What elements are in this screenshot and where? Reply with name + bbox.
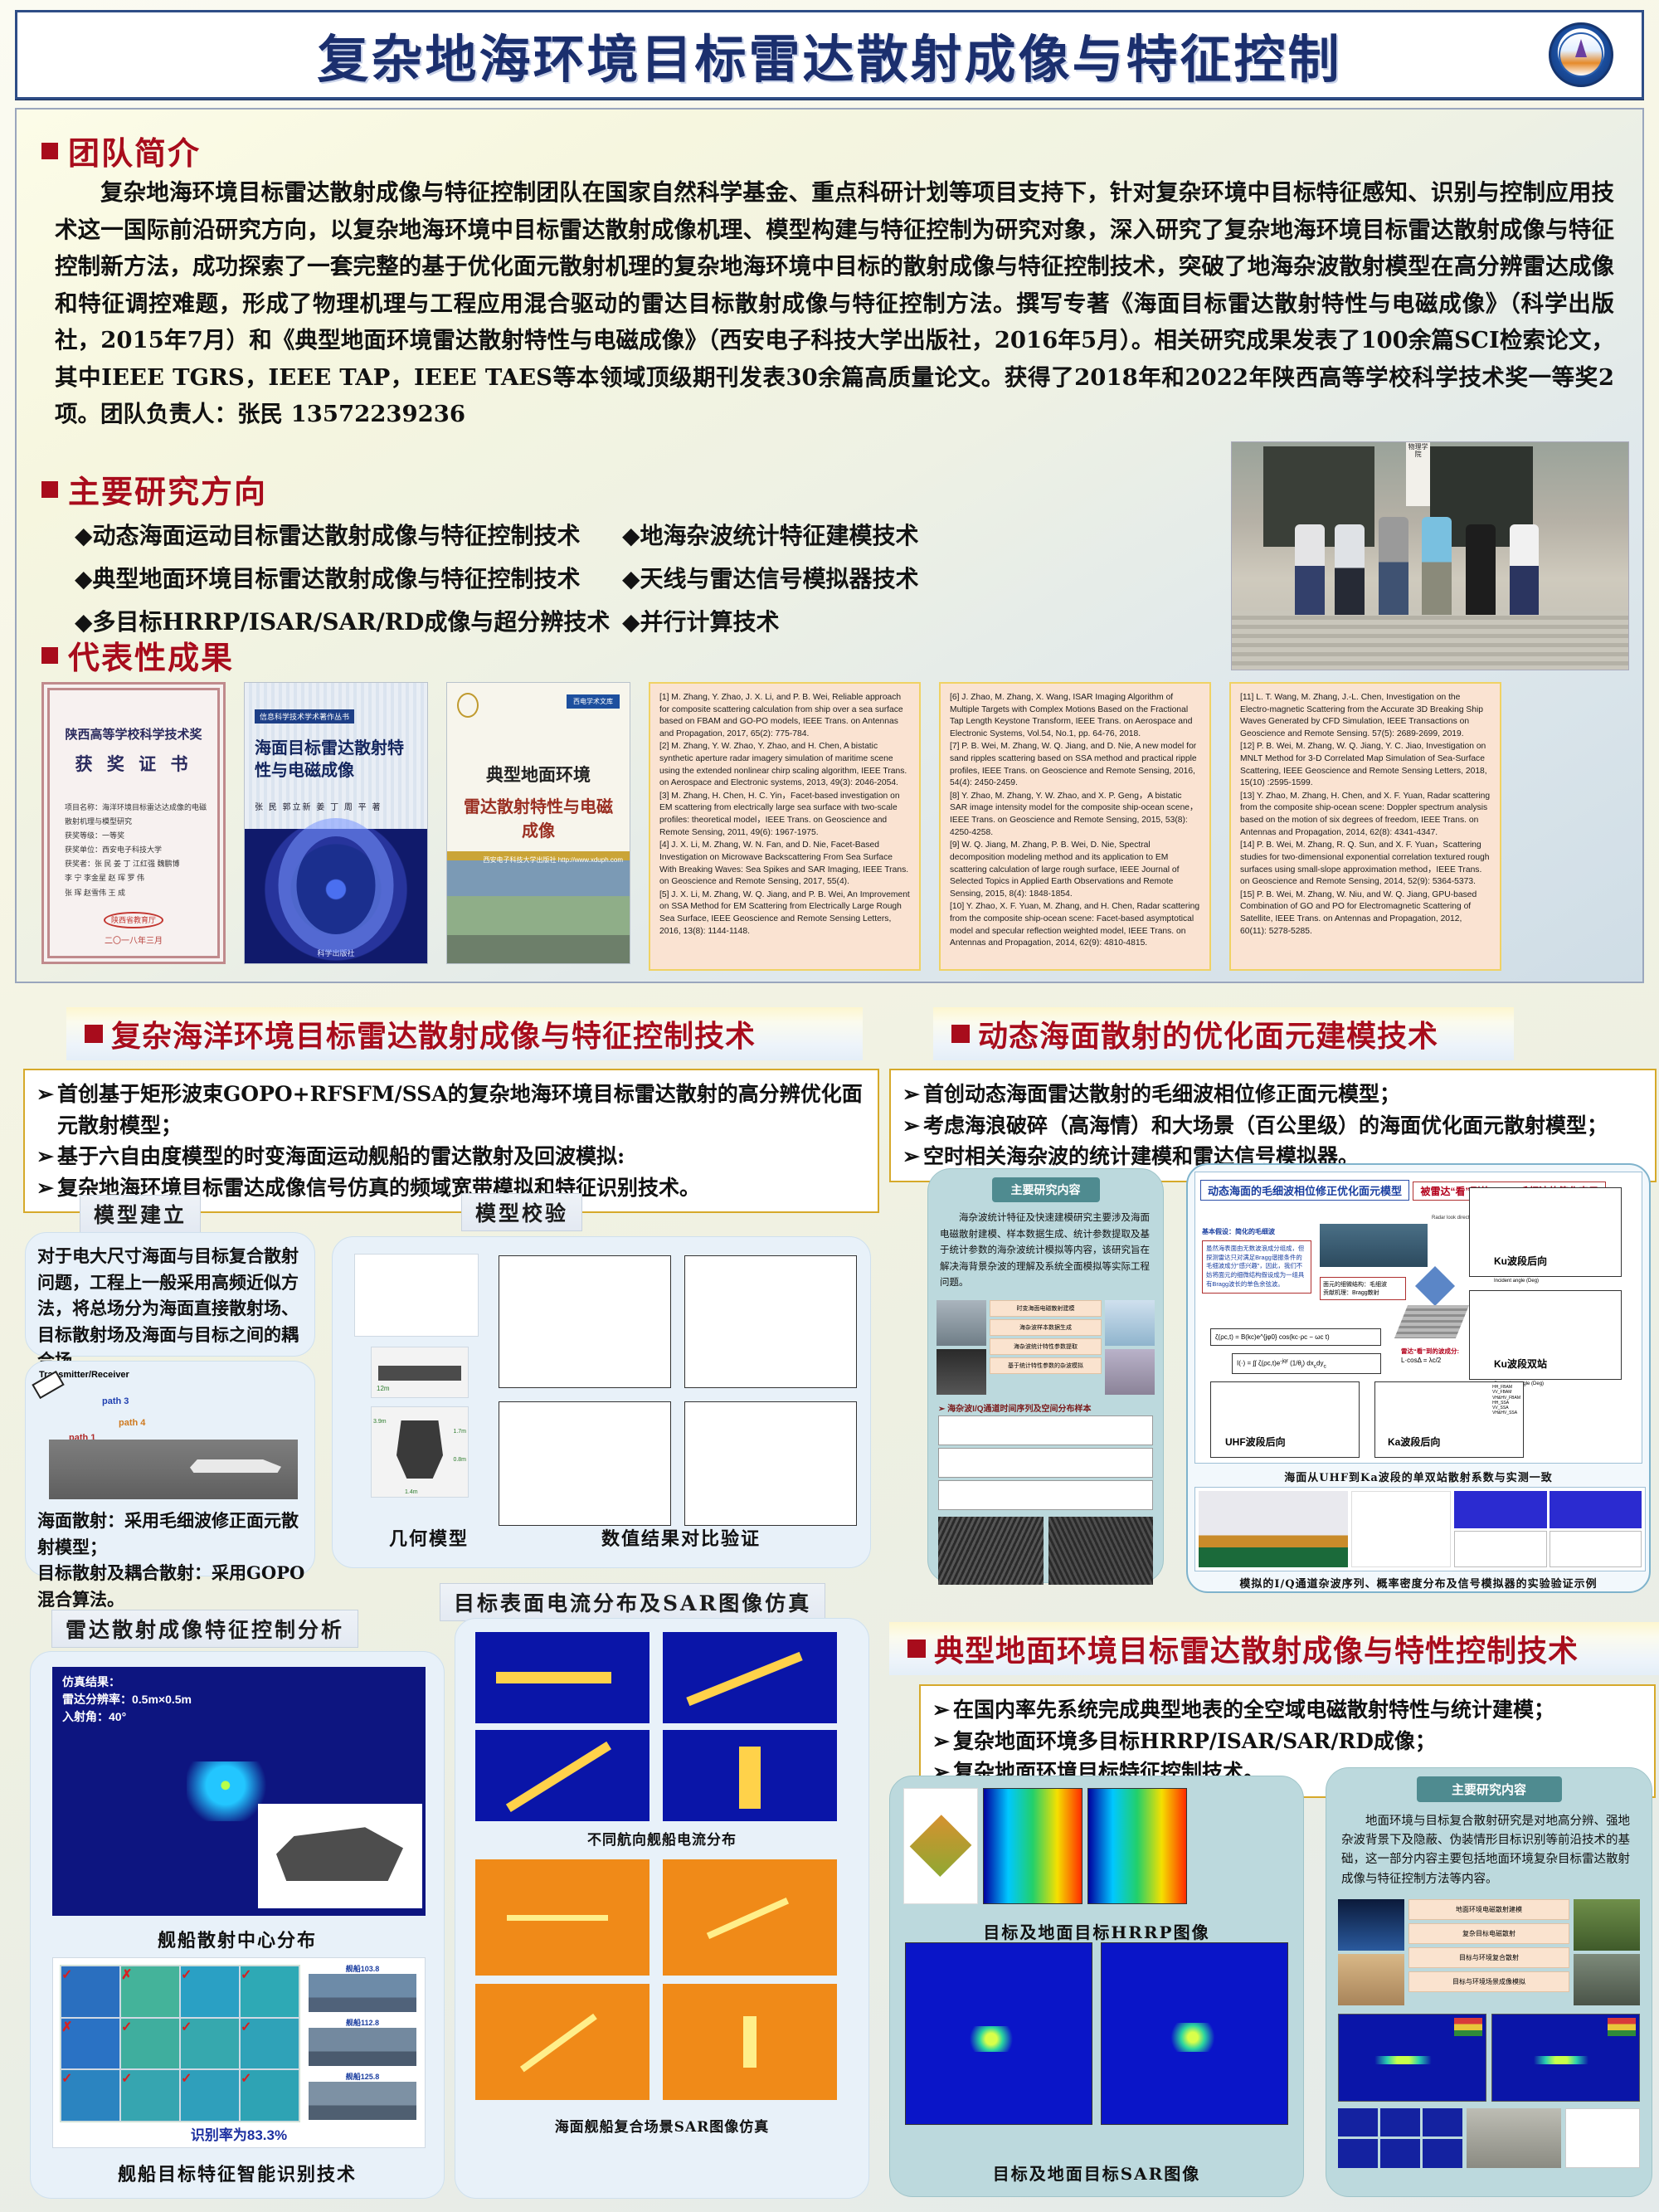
certificate-seal-icon: 陕西省教育厅 bbox=[104, 912, 163, 928]
verify-plot-1 bbox=[499, 1255, 671, 1388]
sim-result-label: 仿真结果： bbox=[62, 1674, 192, 1691]
current-plot-3 bbox=[475, 1730, 649, 1821]
isar-tile bbox=[1338, 2108, 1378, 2137]
recog-tile: ✓ bbox=[240, 2069, 299, 2122]
recognition-rate: 识别率为83.3% bbox=[53, 2123, 425, 2144]
scattering-path-diagram-box: Transmitter/Receiver path 1 path 2 path … bbox=[25, 1361, 315, 1576]
reference-item: [13] Y. Zhao, M. Zhang, H. Chen, and X. … bbox=[1240, 791, 1491, 839]
team-photo: 物理学院 bbox=[1231, 441, 1629, 670]
direction-item: ◆并行计算技术 bbox=[622, 604, 1087, 637]
reference-item: [15] P. B. Wei, M. Zhang, W. Niu, and W.… bbox=[1240, 889, 1491, 938]
sar-image-2 bbox=[1101, 1942, 1288, 2125]
recog-tile: ✓ bbox=[61, 1966, 120, 2018]
antenna-photo bbox=[937, 1300, 986, 1346]
achievements-heading: 代表性成果 bbox=[41, 632, 234, 678]
reference-item: [6] J. Zhao, M. Zhang, X. Wang, ISAR Ima… bbox=[950, 692, 1200, 740]
caption-recognition: 舰船目标特征智能识别技术 bbox=[31, 2160, 444, 2186]
poster-root: 复杂地海环境目标雷达散射成像与特征控制 团队简介 复杂地海环境目标雷达散射成像与… bbox=[0, 0, 1659, 2212]
legend-entry: VH&HV_SSA bbox=[1492, 1411, 1520, 1415]
ground-side-title: 主要研究内容 bbox=[1417, 1776, 1562, 1802]
dynamic-bullet: 首创动态海面雷达散射的毛细波相位修正面元模型； bbox=[923, 1079, 1400, 1110]
equation-2: L·cosΔ = λc/2 bbox=[1401, 1357, 1441, 1364]
isar-tile bbox=[1380, 2108, 1420, 2137]
certificate-field: 项目名称：海洋环境目标雷达达成像的电磁散射机理与模型研究 bbox=[65, 801, 209, 829]
reference-item: [10] Y. Zhao, X. F. Yuan, M. Zhang, and … bbox=[950, 901, 1200, 949]
book2-chip: 西电学术文库 bbox=[567, 694, 620, 709]
book-cover-2: 西电学术文库 典型地面环境 雷达散射特性与电磁成像 Radar Scatteri… bbox=[446, 682, 630, 964]
dynamic-side-caption: 海杂波I/Q通道时间序列及空间分布样本 bbox=[947, 1405, 1091, 1414]
references-column-3: [11] L. T. Wang, M. Zhang, J.-L. Chen, I… bbox=[1229, 682, 1501, 971]
simulator-screenshot bbox=[1199, 1491, 1348, 1567]
certificate-field: 李 宁 李金星 赵 珲 罗 伟 bbox=[65, 871, 209, 885]
result-table bbox=[1565, 2108, 1640, 2168]
caption-sar: 海面舰船复合场景SAR图像仿真 bbox=[455, 2115, 868, 2136]
geom-dim3: 1.7m bbox=[453, 1429, 466, 1435]
iq-simulator-panel bbox=[1194, 1487, 1646, 1571]
current-plot-4 bbox=[663, 1730, 837, 1821]
path4-label: path 4 bbox=[119, 1418, 145, 1428]
verify-plot-4 bbox=[684, 1401, 857, 1526]
caption-hrrp: 目标及地面目标HRRP图像 bbox=[890, 1919, 1303, 1943]
bullet-square-icon bbox=[907, 1640, 926, 1658]
verify-plot-2 bbox=[684, 1255, 857, 1388]
reference-item: [4] J. X. Li, M. Zhang, W. N. Fan, and D… bbox=[659, 840, 910, 888]
sea-surface-map-1 bbox=[938, 1517, 1044, 1585]
book2-publisher: 西安电子科技大学出版社 http://www.xduph.com bbox=[484, 856, 623, 865]
missile-launcher-photo bbox=[1574, 1954, 1640, 2005]
reference-item: [11] L. T. Wang, M. Zhang, J.-L. Chen, I… bbox=[1240, 692, 1491, 740]
dynamic-bullet: 考虑海浪破碎（高海情）和大场景（百公里级）的海面优化面元散射模型； bbox=[923, 1110, 1608, 1142]
ground-side-text: 地面环境与目标复合散射研究是对地高分辨、强地杂波背景下及隐蔽、伪装情形目标识别等… bbox=[1326, 1802, 1652, 1899]
assumption-text: 虽然海表面由无数波浪成分组成，但探测雷达只对满足Bragg谐振条件的毛细波成分"… bbox=[1202, 1240, 1311, 1294]
certificate-fields: 项目名称：海洋环境目标雷达达成像的电磁散射机理与模型研究 获奖等级：一等奖 获奖… bbox=[58, 801, 209, 900]
reference-item: [9] W. Q. Jiang, M. Zhang, P. B. Wei, D.… bbox=[950, 840, 1200, 900]
plate-model-build: 模型建立 bbox=[80, 1195, 201, 1233]
simulator-table bbox=[1351, 1491, 1451, 1567]
direction-item: ◆动态海面运动目标雷达散射成像与特征控制技术 bbox=[75, 518, 622, 551]
team-intro-paragraph: 复杂地海环境目标雷达散射成像与特征控制团队在国家自然科学基金、重点科研计划等项目… bbox=[55, 174, 1614, 433]
ground-bullet: 在国内率先系统完成典型地表的全空域电磁散射特性与统计建模； bbox=[953, 1694, 1554, 1726]
capillary-model-title: 动态海面的毛细波相位修正优化面元模型 bbox=[1200, 1180, 1409, 1201]
pdf-plot-2 bbox=[1550, 1531, 1642, 1568]
pdf-plot-1 bbox=[1454, 1531, 1547, 1568]
recog-tile: ✓ bbox=[180, 1966, 240, 2018]
certificate-date: 二〇一八年三月 bbox=[105, 933, 163, 946]
university-emblem-icon bbox=[1549, 22, 1613, 87]
fund-logo-icon bbox=[457, 693, 479, 718]
plot-label-uhf: UHF波段后向 bbox=[1225, 1435, 1286, 1449]
isar-tile bbox=[1423, 2139, 1462, 2168]
capillary-wave-icon bbox=[1394, 1305, 1469, 1338]
scatter-center-image: 仿真结果： 雷达分辨率：0.5m×0.5m 入射角：40° bbox=[52, 1667, 426, 1916]
ocean-bullet: 首创基于矩形波束GOPO+RFSFM/SSA的复杂地海环境目标雷达散射的高分辨优… bbox=[57, 1079, 866, 1141]
capillary-model-panel: 动态海面的毛细波相位修正优化面元模型 被雷达“看”到的Bragg毛细波的简化表示… bbox=[1194, 1172, 1642, 1464]
isar-tile bbox=[1380, 2139, 1420, 2168]
aircraft-photo bbox=[1105, 1349, 1155, 1395]
recog-tile: ✓ bbox=[240, 1966, 299, 2018]
sar-plot-3 bbox=[475, 1984, 649, 2100]
book1-authors: 张 民 郭立新 姜 丁 周 平 著 bbox=[255, 800, 417, 812]
geom-dim1: 12m bbox=[377, 1385, 390, 1392]
current-plot-1 bbox=[475, 1632, 649, 1723]
isar-tile bbox=[1423, 2108, 1462, 2137]
sar-plot-1 bbox=[475, 1859, 649, 1976]
plot-label-ku-bistatic: Ku波段双站 bbox=[1494, 1357, 1547, 1371]
ground-flow-step: 地面环境电磁散射建模 bbox=[1408, 1899, 1569, 1920]
geom-dim4: 0.8m bbox=[453, 1457, 466, 1463]
ground-scatter-map-1 bbox=[1338, 2014, 1486, 2102]
ground-flow-step: 目标与环境场景成像模拟 bbox=[1408, 1971, 1569, 1992]
geom-dim2: 3.9m bbox=[373, 1419, 387, 1425]
section-ground-heading: 典型地面环境目标雷达散射成像与特性控制技术 bbox=[889, 1622, 1659, 1675]
recog-tile: ✓ bbox=[120, 2018, 180, 2070]
assumption-label: 基本假设：简化的毛细波 bbox=[1202, 1227, 1275, 1236]
caption-iq: 模拟的I/Q通道杂波序列、概率密度分布及信号模拟器的实验验证示例 bbox=[1188, 1575, 1649, 1591]
caption-ground-sar: 目标及地面目标SAR图像 bbox=[890, 2161, 1303, 2185]
dynamic-side-card: 主要研究内容 海杂波统计特征及快速建模研究主要涉及海面电磁散射建模、样本数据生成… bbox=[927, 1168, 1164, 1583]
team-intro-heading: 团队简介 bbox=[41, 128, 201, 173]
ship-label: 舰船103.8 bbox=[309, 1963, 416, 1974]
ground-bullet: 复杂地面环境多目标HRRP/ISAR/SAR/RD成像； bbox=[953, 1726, 1436, 1757]
book-cover-1: 信息科学技术学术著作丛书 海面目标雷达散射特性与电磁成像 张 民 郭立新 姜 丁… bbox=[244, 682, 428, 964]
caption-geometry: 几何模型 bbox=[362, 1524, 495, 1551]
reference-item: [12] P. B. Wei, M. Zhang, W. Q. Jiang, Y… bbox=[1240, 741, 1491, 789]
ground-imaging-card: 目标及地面目标HRRP图像 目标及地面目标SAR图像 bbox=[889, 1776, 1304, 2197]
certificate-field: 获奖等级：一等奖 bbox=[65, 829, 209, 843]
radar-see-label: 雷达“看”到的波成分: bbox=[1401, 1347, 1459, 1356]
research-directions-list: ◆动态海面运动目标雷达散射成像与特征控制技术 ◆地海杂波统计特征建模技术 ◆典型… bbox=[75, 518, 1236, 637]
sea-photo-thumb bbox=[1320, 1224, 1428, 1267]
award-certificate: 陕西高等学校科学技术奖 获 奖 证 书 项目名称：海洋环境目标雷达达成像的电磁散… bbox=[41, 682, 226, 964]
desert-photo bbox=[1338, 1954, 1404, 2005]
caption-scatter-center: 舰船散射中心分布 bbox=[31, 1926, 444, 1952]
certificate-org: 陕西高等学校科学技术奖 bbox=[65, 725, 202, 743]
recog-tile: ✓ bbox=[240, 2018, 299, 2070]
direction-item: ◆典型地面环境目标雷达散射成像与特征控制技术 bbox=[75, 561, 622, 594]
certificate-field: 获奖单位：西安电子科技大学 bbox=[65, 843, 209, 857]
ocean-bullet: 基于六自由度模型的时变海面运动舰船的雷达散射及回波模拟: bbox=[57, 1141, 625, 1172]
poster-title-bar: 复杂地海环境目标雷达散射成像与特征控制 bbox=[15, 10, 1644, 100]
sea-surface-map-2 bbox=[1048, 1517, 1154, 1585]
references-column-2: [6] J. Zhao, M. Zhang, X. Wang, ISAR Ima… bbox=[939, 682, 1211, 971]
book1-title: 海面目标雷达散射特性与电磁成像 bbox=[255, 737, 417, 782]
hrrp-image-2 bbox=[1087, 1788, 1187, 1904]
ocean-bullet-list: ➢首创基于矩形波束GOPO+RFSFM/SSA的复杂地海环境目标雷达散射的高分辨… bbox=[23, 1069, 879, 1213]
dynamic-side-title: 主要研究内容 bbox=[992, 1177, 1100, 1202]
recog-tile: ✓ bbox=[61, 2069, 120, 2122]
reference-item: [2] M. Zhang, Y. W. Zhao, Y. Zhao, and H… bbox=[659, 741, 910, 789]
satellite-photo bbox=[1338, 1899, 1404, 1951]
geom-dim5: 1.4m bbox=[405, 1489, 418, 1495]
bullet-square-icon bbox=[951, 1025, 970, 1043]
caption-bands: 海面从UHF到Ka波段的单双站散射系数与实测一致 bbox=[1188, 1469, 1649, 1484]
sar-plot-2 bbox=[663, 1859, 837, 1976]
reference-item: [3] M. Zhang, H. Chen, H. C. Yin，Facet-b… bbox=[659, 791, 910, 839]
ship-cross-section-sketch: 3.9m 1.7m 0.8m 1.4m bbox=[371, 1406, 469, 1498]
ship-profile-sketch: 12m bbox=[371, 1347, 469, 1398]
sim-incidence: 入射角：40° bbox=[62, 1708, 192, 1726]
aircraft-field-photo bbox=[1574, 1899, 1640, 1951]
bullet-square-icon bbox=[85, 1025, 103, 1043]
ground-flow-step: 目标与环境复合散射 bbox=[1408, 1947, 1569, 1968]
plot-label-ku-back: Ku波段后向 bbox=[1494, 1254, 1547, 1268]
sar-image-1 bbox=[905, 1942, 1092, 2125]
ground-flow-step: 复杂目标电磁散射 bbox=[1408, 1923, 1569, 1944]
book2-title: 典型地面环境 bbox=[457, 762, 620, 787]
clutter-map-1 bbox=[1454, 1491, 1547, 1528]
terrain-3d-thumb bbox=[903, 1788, 978, 1904]
bullet-square-icon bbox=[41, 143, 58, 159]
caption-current: 不同航向舰船电流分布 bbox=[455, 1828, 868, 1849]
model-verify-box: 12m 3.9m 1.7m 0.8m 1.4m 几何模型 数值结果对比验证 bbox=[332, 1236, 871, 1568]
ground-side-card: 主要研究内容 地面环境与目标复合散射研究是对地高分辨、强地杂波背景下及隐蔽、伪装… bbox=[1326, 1767, 1652, 2197]
verify-plot-3 bbox=[499, 1401, 671, 1526]
reference-item: [1] M. Zhang, Y. Zhao, J. X. Li, and P. … bbox=[659, 692, 910, 740]
hrrp-image-1 bbox=[983, 1788, 1082, 1904]
axis-label-incident: Incident angle (Deg) bbox=[1494, 1279, 1539, 1284]
iq-series-black bbox=[938, 1415, 1153, 1445]
sar-photo bbox=[937, 1349, 986, 1395]
flow-step: 基于统计特性参数的杂波模拟 bbox=[990, 1357, 1102, 1374]
achievements-row: 陕西高等学校科学技术奖 获 奖 证 书 项目名称：海洋环境目标雷达达成像的电磁散… bbox=[41, 682, 1501, 971]
plate-model-verify: 模型校验 bbox=[461, 1193, 582, 1231]
references-column-1: [1] M. Zhang, Y. Zhao, J. X. Li, and P. … bbox=[649, 682, 921, 971]
ship-photo bbox=[1105, 1300, 1155, 1346]
dynamic-side-text: 海杂波统计特征及快速建模研究主要涉及海面电磁散射建模、样本数据生成、统计参数提取… bbox=[928, 1202, 1163, 1300]
isar-tile bbox=[1338, 2139, 1378, 2168]
flow-step: 海杂波样本数据生成 bbox=[990, 1319, 1102, 1336]
model-build-textbox: 对于电大尺寸海面与目标复合散射问题，工程上一般采用高频近似方法，将总场分为海面直… bbox=[25, 1232, 315, 1357]
facet-structure-label: 面元的细微结构：毛细波 贡献机理：Bragg散射 bbox=[1320, 1277, 1406, 1300]
ground-scatter-map-2 bbox=[1491, 2014, 1640, 2102]
recognition-grid-panel: ✓ ✗ ✓ ✓ ✗ ✓ ✓ ✓ ✓ ✓ ✓ ✓ 舰船103.8 舰船112.8 … bbox=[52, 1957, 426, 2148]
path3-label: path 3 bbox=[102, 1396, 129, 1406]
certificate-title: 获 奖 证 书 bbox=[75, 751, 192, 776]
vehicle-photos bbox=[1467, 2108, 1561, 2168]
section-dynamic-heading: 动态海面散射的优化面元建模技术 bbox=[933, 1007, 1514, 1060]
equation-1: ζ(ρc,t) = B(kc)e^{jφ0} cos(kc·ρc − ωc t) bbox=[1210, 1328, 1381, 1346]
section-ocean-heading: 复杂海洋环境目标雷达散射成像与特征控制技术 bbox=[66, 1007, 863, 1060]
flow-step: 海杂波统计特性参数提取 bbox=[990, 1338, 1102, 1355]
book1-series: 信息科学技术学术著作丛书 bbox=[255, 709, 354, 724]
geometry-sketch bbox=[354, 1254, 479, 1337]
reference-item: [14] P. B. Wei, M. Zhang, R. Q. Sun, and… bbox=[1240, 840, 1491, 888]
recog-tile: ✓ bbox=[180, 2069, 240, 2122]
reference-item: [7] P. B. Wei, M. Zhang, W. Q. Jiang, an… bbox=[950, 741, 1200, 789]
ship-label: 舰船125.8 bbox=[309, 2071, 416, 2082]
book1-publisher: 科学出版社 bbox=[317, 948, 354, 958]
plate-feature-control: 雷达散射成像特征控制分析 bbox=[51, 1610, 358, 1648]
photo-banner-text: 物理学院 bbox=[1406, 442, 1430, 459]
caption-numeric: 数值结果对比验证 bbox=[540, 1524, 822, 1551]
iq-series-blue bbox=[938, 1448, 1153, 1478]
team-overview-card: 团队简介 复杂地海环境目标雷达散射成像与特征控制团队在国家自然科学基金、重点科研… bbox=[15, 108, 1644, 983]
book2-subtitle: 雷达散射特性与电磁成像 bbox=[457, 793, 620, 841]
certificate-field: 张 珲 赵雪伟 王 成 bbox=[65, 886, 209, 900]
recog-tile: ✗ bbox=[61, 2018, 120, 2070]
legend-entry: VH&HV_FBAM bbox=[1492, 1396, 1520, 1401]
bullet-square-icon bbox=[41, 647, 58, 664]
recog-tile: ✗ bbox=[120, 1966, 180, 2018]
direction-item: ◆天线与雷达信号模拟器技术 bbox=[622, 561, 1087, 594]
direction-item: ◆地海杂波统计特征建模技术 bbox=[622, 518, 1087, 551]
flow-step: 时变海面电磁散射建模 bbox=[990, 1300, 1102, 1317]
current-sar-box: 不同航向舰船电流分布 海面舰船复合场景SAR图像仿真 bbox=[455, 1618, 869, 2199]
clutter-map-2 bbox=[1550, 1491, 1642, 1528]
research-directions-heading: 主要研究方向 bbox=[41, 466, 267, 512]
bullet-square-icon bbox=[41, 481, 58, 498]
page-title: 复杂地海环境目标雷达散射成像与特征控制 bbox=[317, 17, 1341, 92]
plate-current-sar: 目标表面电流分布及SAR图像仿真 bbox=[440, 1583, 825, 1621]
recog-tile: ✓ bbox=[180, 2018, 240, 2070]
certificate-field: 获奖者：张 民 姜 丁 江红强 魏鹏博 bbox=[65, 857, 209, 871]
dynamic-main-card: 动态海面的毛细波相位修正优化面元模型 被雷达“看”到的Bragg毛细波的简化表示… bbox=[1186, 1163, 1651, 1593]
ship-label: 舰船112.8 bbox=[309, 2017, 416, 2028]
recog-tile: ✓ bbox=[120, 2069, 180, 2122]
plot-label-ka: Ka波段后向 bbox=[1388, 1435, 1440, 1449]
facet-icon bbox=[1415, 1266, 1455, 1306]
reference-item: [8] Y. Zhao, M. Zhang, Y. W. Zhao, and X… bbox=[950, 791, 1200, 839]
model-build-note: 海面散射：采用毛细波修正面元散射模型； 目标散射及耦合散射：采用GOPO混合算法… bbox=[37, 1508, 311, 1612]
sar-plot-4 bbox=[663, 1984, 837, 2100]
current-plot-2 bbox=[663, 1632, 837, 1723]
equation-integral: I(·) = ∫∫ ζ(ρc,t)e-jqr (1/θi) dxcdyc bbox=[1232, 1353, 1381, 1374]
sim-resolution: 雷达分辨率：0.5m×0.5m bbox=[62, 1691, 192, 1708]
reference-item: [5] J. X. Li, M. Zhang, W. Q. Jiang, and… bbox=[659, 889, 910, 938]
feature-control-box: 仿真结果： 雷达分辨率：0.5m×0.5m 入射角：40° 舰船散射中心分布 ✓… bbox=[30, 1651, 445, 2199]
iq-series-red bbox=[938, 1480, 1153, 1510]
